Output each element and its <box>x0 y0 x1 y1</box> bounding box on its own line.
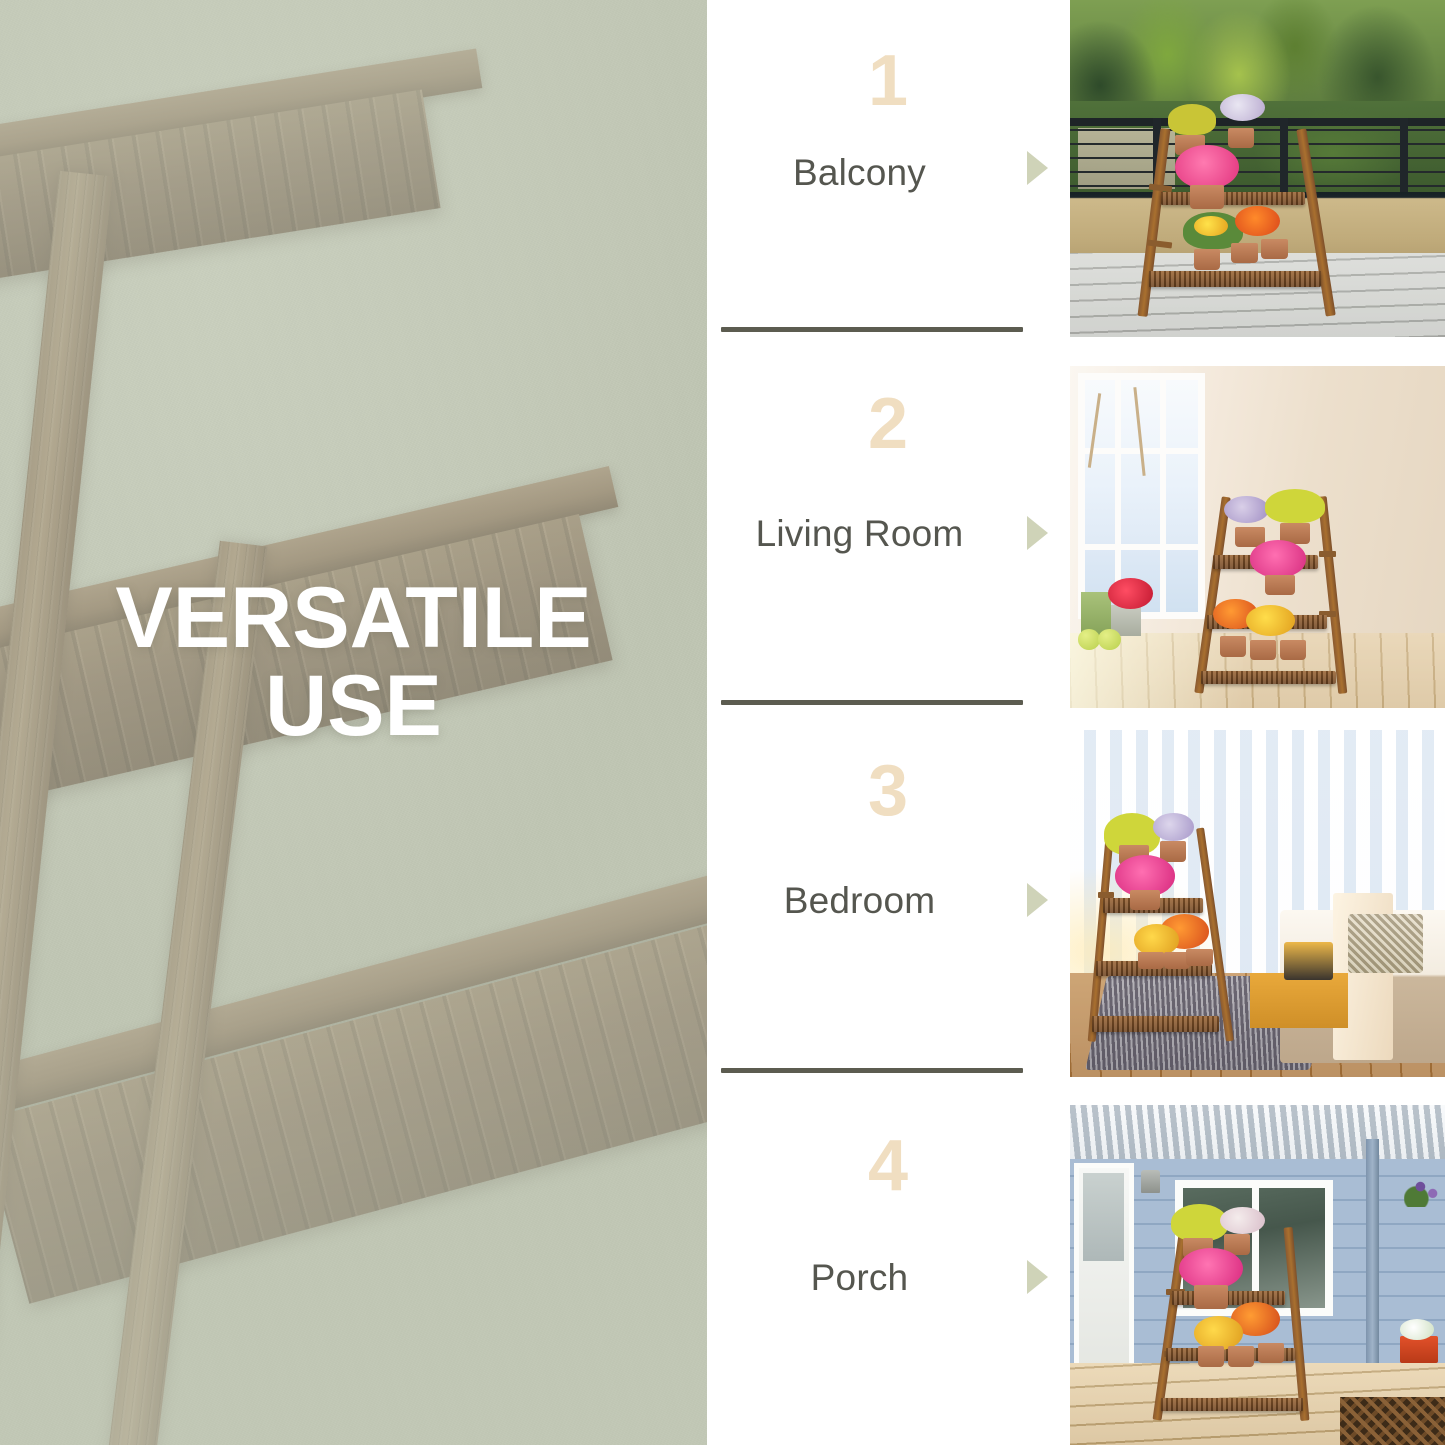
door-window <box>1083 1173 1124 1261</box>
flower-yellow <box>1171 1204 1227 1241</box>
hero-panel: VERSATILE USE <box>0 0 707 1445</box>
flower-pink <box>1175 145 1239 189</box>
terracotta-pot <box>1220 636 1246 657</box>
step-number: 1 <box>707 45 1070 117</box>
step-label: Porch <box>707 1257 1012 1299</box>
step-label: Bedroom <box>707 880 1012 922</box>
row-divider-1 <box>721 327 1023 332</box>
bench <box>1250 973 1348 1029</box>
triangle-right-icon <box>1027 516 1048 550</box>
terracotta-pot <box>1280 640 1306 661</box>
terracotta-pot <box>1194 249 1220 269</box>
terracotta-pot <box>1186 949 1212 966</box>
flower-yellow <box>1265 489 1325 523</box>
plant-stand <box>1198 496 1348 694</box>
flower-pink <box>1250 540 1306 578</box>
terracotta-pot <box>1250 640 1276 661</box>
photo-bedroom[interactable] <box>1070 730 1445 1077</box>
terracotta-pot <box>1198 1346 1224 1366</box>
step-number: 3 <box>707 755 1070 827</box>
railing-post <box>1400 118 1408 199</box>
photo-balcony[interactable] <box>1070 0 1445 337</box>
apple <box>1078 629 1101 650</box>
apple <box>1098 629 1121 650</box>
step-label: Living Room <box>707 513 1012 555</box>
window-mullion <box>1160 373 1166 619</box>
flower-pink <box>1179 1248 1243 1289</box>
hanging-basket <box>1404 1173 1445 1207</box>
hero-title: VERSATILE USE <box>0 575 707 750</box>
terracotta-pot <box>1258 1343 1284 1363</box>
flower-yellow <box>1168 104 1217 134</box>
flower-yellow <box>1194 1316 1243 1350</box>
photo-porch[interactable] <box>1070 1105 1445 1445</box>
flower-white <box>1400 1319 1434 1339</box>
flower-lilac <box>1224 496 1269 523</box>
terracotta-pot <box>1138 952 1164 969</box>
terracotta-pot <box>1190 185 1224 209</box>
terracotta-pot <box>1228 1346 1254 1366</box>
triangle-right-icon <box>1027 151 1048 185</box>
row-divider-2 <box>721 700 1023 705</box>
flower-orange <box>1235 206 1280 236</box>
list-item-bedroom[interactable]: 3 Bedroom <box>707 730 1070 1077</box>
side-table <box>1284 942 1333 980</box>
terracotta-pot <box>1261 239 1287 259</box>
flower-lilac <box>1153 813 1194 841</box>
armchair <box>1348 914 1423 973</box>
window-mullion <box>1078 544 1206 550</box>
terracotta-pot <box>1228 128 1254 148</box>
terracotta-pot <box>1265 575 1295 596</box>
row-divider-3 <box>721 1068 1023 1073</box>
terracotta-pot <box>1194 1285 1228 1309</box>
hero-title-line-2: USE <box>40 663 667 751</box>
triangle-right-icon <box>1027 1260 1048 1294</box>
support-post <box>1366 1139 1379 1384</box>
flower-yellow <box>1246 605 1295 636</box>
step-number: 2 <box>707 388 1070 460</box>
porch-light-icon <box>1141 1170 1160 1194</box>
red-planter <box>1400 1336 1438 1363</box>
list-item-balcony[interactable]: 1 Balcony <box>707 0 1070 337</box>
flower-white <box>1220 1207 1265 1234</box>
lattice-panel <box>1340 1397 1445 1445</box>
porch-roof <box>1070 1105 1445 1159</box>
terracotta-pot <box>1130 890 1160 911</box>
step-number: 4 <box>707 1130 1070 1202</box>
triangle-right-icon <box>1027 883 1048 917</box>
terracotta-pot <box>1231 243 1257 263</box>
hero-title-line-1: VERSATILE <box>40 575 667 663</box>
flower-yellow <box>1194 216 1228 236</box>
list-item-porch[interactable]: 4 Porch <box>707 1105 1070 1445</box>
photo-column <box>1070 0 1445 1445</box>
label-column: 1 Balcony 2 Living Room 3 Bedroom 4 Porc… <box>707 0 1070 1445</box>
step-label: Balcony <box>707 152 1012 194</box>
flower-yellow <box>1134 924 1179 955</box>
photo-living-room[interactable] <box>1070 366 1445 708</box>
infographic-canvas: VERSATILE USE 1 Balcony 2 Living Room 3 … <box>0 0 1445 1445</box>
list-item-living-room[interactable]: 2 Living Room <box>707 366 1070 708</box>
flower-red <box>1108 578 1153 609</box>
